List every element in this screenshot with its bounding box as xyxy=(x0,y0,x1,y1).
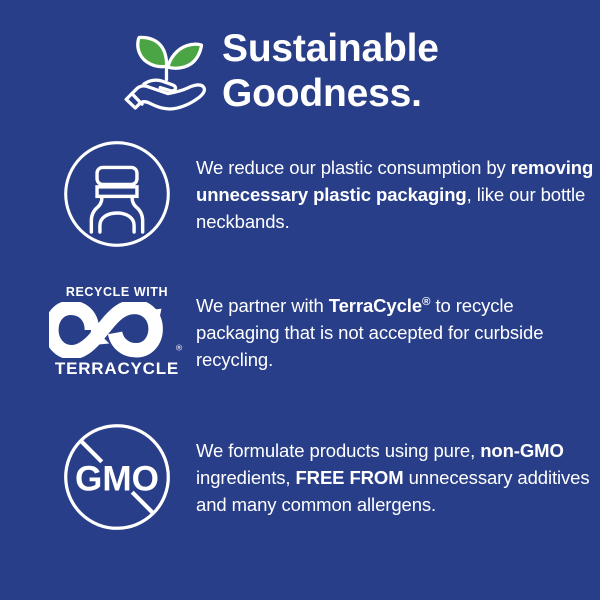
text-segment: We partner with xyxy=(196,295,329,316)
feature-text-plastic: We reduce our plastic consumption by rem… xyxy=(182,154,600,235)
feature-text-gmo: We formulate products using pure, non-GM… xyxy=(182,437,600,518)
hand-holding-sprout-icon xyxy=(118,24,214,120)
text-segment: We reduce our plastic consumption by xyxy=(196,157,511,178)
recycle-loop-icon: ® xyxy=(49,302,185,358)
text-segment-bold: non-GMO xyxy=(480,440,564,461)
text-segment: We formulate products using pure, xyxy=(196,440,480,461)
feature-text-terracycle: We partner with TerraCycle® to recycle p… xyxy=(182,292,600,373)
feature-row-gmo: GMO We formulate products using pure, no… xyxy=(0,402,600,552)
terracycle-logo-top-text: RECYCLE WITH xyxy=(49,285,185,299)
bottle-neckband-icon xyxy=(52,137,182,251)
no-gmo-icon: GMO xyxy=(52,420,182,534)
terracycle-logo-bottom-text: TERRACYCLE xyxy=(49,359,185,379)
terracycle-logo: RECYCLE WITH ® TERRACYCLE xyxy=(52,285,182,379)
feature-row-plastic: We reduce our plastic consumption by rem… xyxy=(0,126,600,262)
text-segment: ingredients, xyxy=(196,467,295,488)
text-segment-bold: FREE FROM xyxy=(295,467,403,488)
text-segment-bold: TerraCycle® xyxy=(329,295,431,316)
header: Sustainable Goodness. xyxy=(0,0,600,118)
gmo-label: GMO xyxy=(75,459,159,498)
page-title: Sustainable Goodness. xyxy=(222,26,439,116)
brand-name: TerraCycle xyxy=(329,295,422,316)
feature-row-terracycle: RECYCLE WITH ® TERRACYCLE We partner wit… xyxy=(0,262,600,402)
